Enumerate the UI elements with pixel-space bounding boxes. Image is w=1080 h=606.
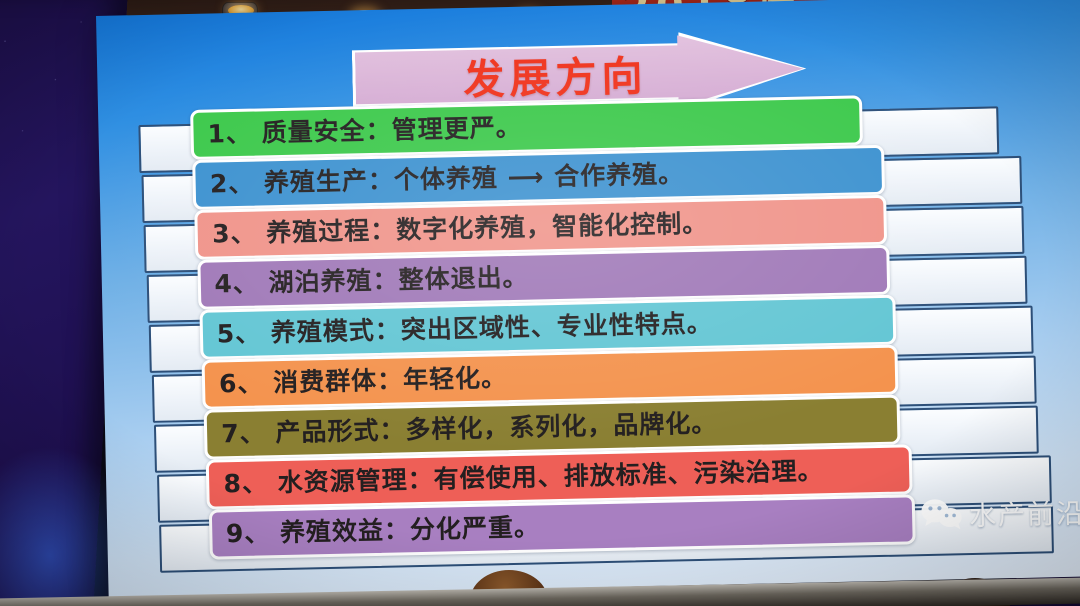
- wechat-icon: [921, 498, 964, 531]
- watermark-text: 水产前沿: [969, 492, 1080, 534]
- watermark: 水产前沿: [921, 492, 1080, 535]
- projection-screen: 发展方向 1、 质量安全：管理更严。2、 养殖生产：个体养殖 ⟶ 合作养殖。3、…: [96, 0, 1080, 606]
- bullet-row-text: 6、 消费群体：年轻化。: [205, 356, 508, 407]
- bullet-row-text: 4、 湖泊养殖：整体退出。: [200, 256, 529, 307]
- presentation-slide: 发展方向 1、 质量安全：管理更严。2、 养殖生产：个体养殖 ⟶ 合作养殖。3、…: [96, 0, 1080, 598]
- bullet-row-text: 1、 质量安全：管理更严。: [193, 106, 522, 157]
- bullet-row-text: 3、 养殖过程：数字化养殖，智能化控制。: [198, 202, 709, 257]
- bullet-row-text: 7、 产品形式：多样化，系列化，品牌化。: [207, 402, 718, 457]
- photo-scene: 2018届 发展方向 1、 质量安全：管理更严。2、 养殖生产：个体养殖 ⟶ 合…: [0, 0, 1080, 606]
- bullet-row-text: 5、 养殖模式：突出区域性、专业性特点。: [202, 302, 713, 357]
- bullet-row-text: 9、 养殖效益：分化严重。: [211, 505, 540, 556]
- bullet-row-text: 2、 养殖生产：个体养殖 ⟶ 合作养殖。: [195, 152, 684, 207]
